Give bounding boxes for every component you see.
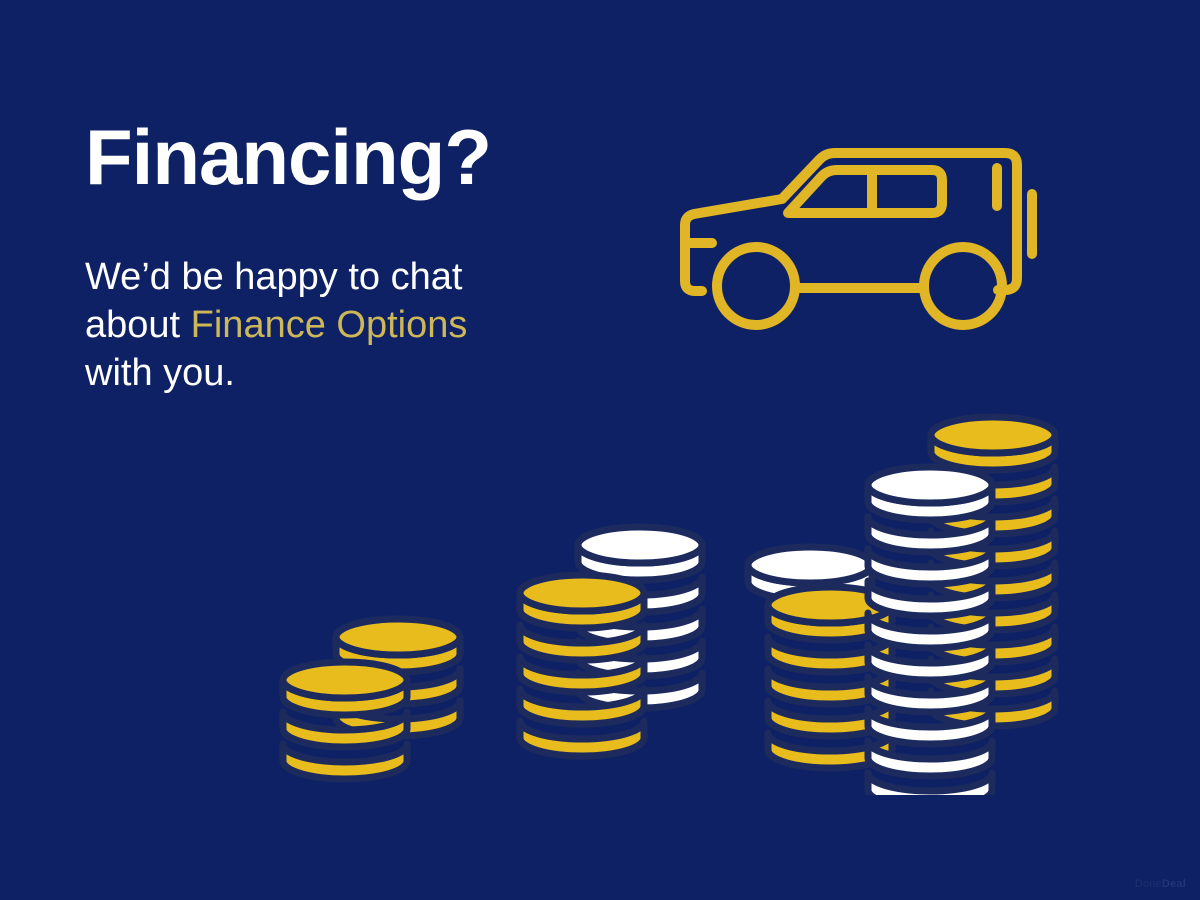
subtitle-line-2-prefix: about	[85, 304, 191, 346]
coin-stack-small	[283, 619, 460, 779]
car-window-outline	[788, 170, 942, 213]
page-title: Financing?	[85, 118, 605, 196]
subtitle-text: We’d be happy to chat about Finance Opti…	[85, 254, 515, 398]
watermark-prefix: Done	[1135, 878, 1162, 890]
car-front-wheel	[717, 247, 795, 325]
car-rear-wheel	[924, 247, 1002, 325]
financing-promo-slide: Financing? We’d be happy to chat about F…	[0, 0, 1200, 900]
text-block: Financing? We’d be happy to chat about F…	[85, 118, 605, 398]
watermark-suffix: Deal	[1162, 878, 1186, 890]
car-icon	[660, 128, 1060, 333]
subtitle-line-3: with you.	[85, 352, 235, 394]
subtitle-line-1: We’d be happy to chat	[85, 256, 462, 298]
coin-stack-medium	[520, 527, 702, 756]
coin-stack-large	[748, 417, 1055, 795]
watermark-donedeal: DoneDeal	[1135, 878, 1186, 890]
coin-stack-large-front-left	[768, 587, 892, 768]
coin-stacks-illustration	[270, 405, 1070, 795]
subtitle-accent-finance-options: Finance Options	[191, 304, 468, 346]
